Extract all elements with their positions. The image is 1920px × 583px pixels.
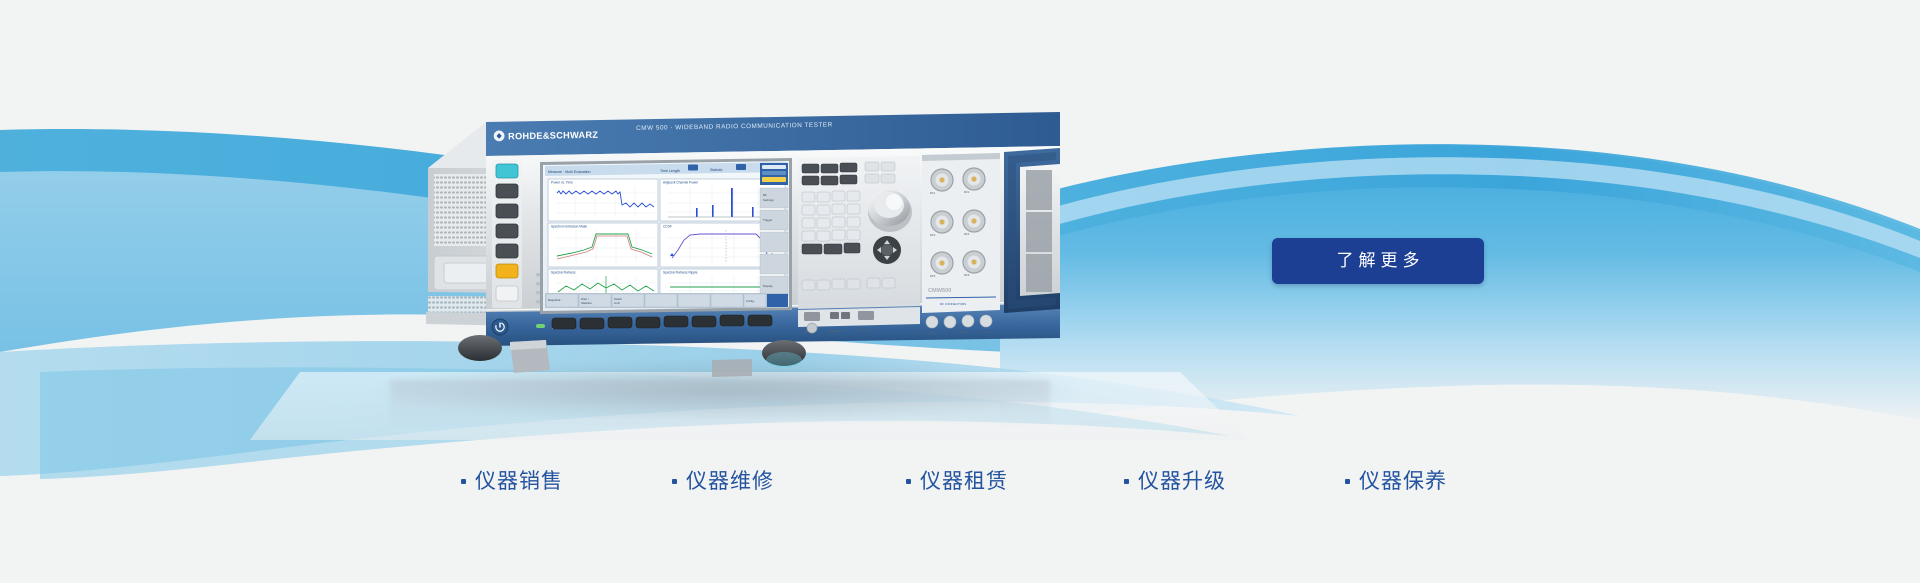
- service-item-repair[interactable]: 仪器维修: [672, 466, 774, 496]
- service-label: 仪器销售: [475, 471, 563, 492]
- svg-text:Config...: Config...: [746, 299, 756, 303]
- bullet-icon: [1345, 479, 1350, 484]
- svg-text:ROHDE&SCHWARZ: ROHDE&SCHWARZ: [508, 130, 598, 142]
- svg-text:SENSOR: SENSOR: [829, 329, 841, 333]
- svg-text:Display: Display: [763, 284, 773, 288]
- service-label: 仪器维修: [686, 471, 774, 492]
- svg-text:Spectrum Emission Mask: Spectrum Emission Mask: [551, 225, 587, 229]
- svg-text:RF5: RF5: [930, 274, 936, 278]
- svg-text:Measure · Multi Evaluation: Measure · Multi Evaluation: [548, 170, 591, 174]
- svg-text:Power vs. Time: Power vs. Time: [551, 181, 573, 185]
- svg-text:Statistics: Statistics: [581, 301, 592, 305]
- svg-text:CMW500: CMW500: [928, 288, 951, 294]
- bullet-icon: [906, 479, 911, 484]
- svg-text:Settings: Settings: [763, 198, 774, 202]
- rf-connector: [963, 251, 985, 273]
- rf-connector: [963, 168, 985, 190]
- service-item-rental[interactable]: 仪器租赁: [906, 466, 1008, 496]
- bullet-icon: [461, 479, 466, 484]
- brand-logo: ROHDE&SCHWARZ: [494, 129, 599, 142]
- svg-text:Filter /: Filter /: [581, 297, 589, 301]
- rf-connector-module: RF1RF2 RF3RF4 RF5RF6 CMW500 RF CONNECTOR…: [922, 153, 1000, 335]
- svg-text:AUX 1: AUX 1: [926, 331, 934, 335]
- rear-module-slots: [1026, 170, 1052, 292]
- learn-more-label: 了解更多: [1332, 253, 1425, 270]
- svg-text:RF3: RF3: [930, 233, 936, 237]
- bullet-icon: [672, 479, 677, 484]
- rf-connector: [963, 210, 985, 232]
- svg-text:AUX 2: AUX 2: [960, 330, 968, 334]
- service-item-upgrade[interactable]: 仪器升级: [1124, 466, 1226, 496]
- learn-more-button[interactable]: 了解更多: [1272, 238, 1484, 284]
- svg-text:RF2: RF2: [964, 190, 970, 194]
- svg-text:RF1: RF1: [930, 191, 936, 195]
- svg-text:Switch: Switch: [614, 297, 622, 301]
- service-label: 仪器保养: [1359, 471, 1447, 492]
- cursor-pad[interactable]: [873, 236, 901, 264]
- svg-text:Limit: Limit: [614, 301, 620, 305]
- svg-text:RF6: RF6: [964, 273, 970, 277]
- hero-banner: ROHDE&SCHWARZ CMW 500 · WIDEBAND RADIO C…: [0, 0, 1920, 583]
- svg-text:RF: RF: [763, 193, 767, 197]
- screen-plots: Power vs. Time Adjacent Channel Power: [548, 179, 785, 307]
- svg-text:AUX 3: AUX 3: [982, 330, 990, 334]
- service-item-maintenance[interactable]: 仪器保养: [1345, 466, 1447, 496]
- bullet-icon: [1124, 479, 1129, 484]
- svg-text:LAN: LAN: [803, 330, 809, 334]
- svg-text:Adjacent Channel Power: Adjacent Channel Power: [663, 181, 699, 185]
- screen-bottom-keys[interactable]: Magnificat... Filter /Statistics SwitchL…: [545, 293, 788, 308]
- svg-text:CCDF: CCDF: [663, 225, 672, 229]
- svg-text:Time Length: Time Length: [660, 169, 680, 173]
- svg-text:Statistic: Statistic: [710, 168, 723, 172]
- service-label: 仪器租赁: [920, 471, 1008, 492]
- svg-text:RF4: RF4: [964, 232, 970, 236]
- svg-text:Magnificat...: Magnificat...: [548, 298, 563, 302]
- left-key-column[interactable]: [492, 160, 522, 308]
- rf-connector: [931, 211, 953, 233]
- product-reflection: [390, 380, 1050, 435]
- svg-text:Spectral Flatness: Spectral Flatness: [551, 270, 576, 274]
- svg-text:Spectral Flatness Ripple: Spectral Flatness Ripple: [663, 270, 698, 274]
- service-item-sales[interactable]: 仪器销售: [461, 466, 563, 496]
- rf-connector: [931, 252, 953, 274]
- product-image-cmw500: ROHDE&SCHWARZ CMW 500 · WIDEBAND RADIO C…: [360, 60, 1120, 390]
- rf-connector: [931, 169, 953, 191]
- svg-text:USB: USB: [860, 328, 866, 332]
- screen-side-keys[interactable]: RFSettings Trigger Display: [760, 163, 788, 296]
- service-list: 仪器销售 仪器维修 仪器租赁 仪器升级 仪器保养: [0, 466, 1920, 506]
- svg-text:Trigger: Trigger: [763, 218, 772, 222]
- instrument-screen: Measure · Multi Evaluation Time Length S…: [540, 158, 792, 314]
- service-label: 仪器升级: [1138, 471, 1226, 492]
- svg-text:RF CONNECTORS: RF CONNECTORS: [940, 302, 966, 306]
